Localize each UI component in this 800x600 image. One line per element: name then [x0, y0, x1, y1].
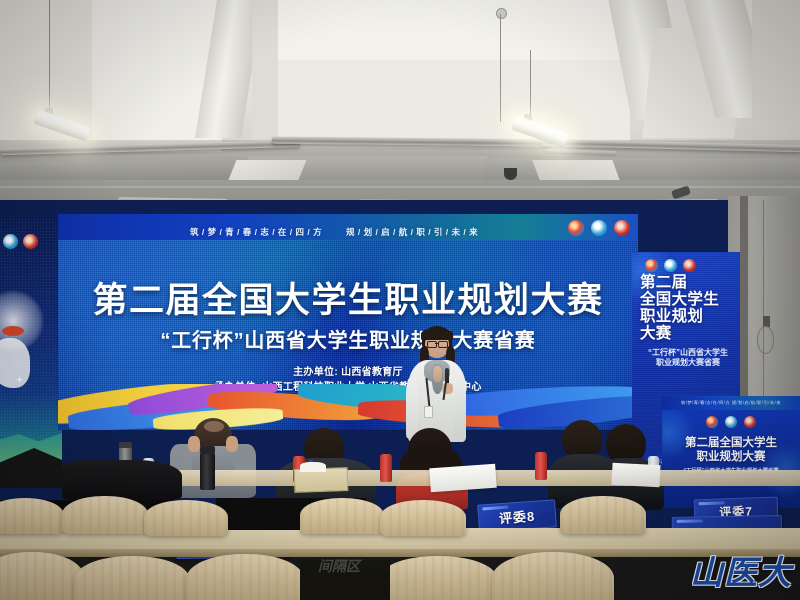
organizer-label: 主办单位: — [293, 367, 338, 378]
light-wire — [49, 0, 50, 112]
bottle-cap — [119, 442, 132, 448]
ceiling-mount — [496, 8, 507, 19]
podium-title: 第二届全国大学生 职业规划大赛 — [662, 436, 800, 464]
water-bottle — [535, 452, 547, 480]
education-ministry-logo — [725, 416, 737, 428]
organizer-row: 主办单位: 山西省教育厅 — [58, 366, 638, 381]
podium-logos — [662, 416, 800, 428]
cable-loop — [757, 326, 774, 354]
left-banner-logos — [3, 234, 38, 249]
presenter-badge — [424, 406, 433, 418]
water-bottle — [380, 454, 392, 482]
slogan-right: 规 / 划 / 启 / 航 / 职 / 引 / 未 / 来 — [346, 226, 478, 238]
icbc-bank-logo — [744, 416, 756, 428]
event-sub-title: “工行杯”山西省大学生职业规划大赛省赛 — [58, 324, 638, 353]
black-jacket — [62, 460, 182, 500]
competition-flame-logo — [706, 416, 718, 428]
education-ministry-logo — [664, 259, 677, 272]
light-wire — [500, 14, 501, 122]
placard-header-bar — [677, 519, 703, 522]
education-ministry-logo — [3, 234, 18, 249]
banner-sub-line: “工行杯”山西省大学生 — [640, 348, 736, 358]
banner-blob — [0, 338, 30, 388]
chair — [378, 556, 498, 600]
banner-title-line: 第二届 — [640, 274, 734, 291]
water-bottle — [200, 452, 215, 490]
left-side-banner — [0, 218, 62, 468]
icbc-bank-logo — [23, 234, 38, 249]
chair — [186, 554, 304, 600]
icbc-bank-logo — [683, 259, 696, 272]
event-main-title: 第二届全国大学生职业规划大赛 — [58, 272, 638, 323]
ceiling-speaker — [504, 168, 517, 180]
slogan-left: 筑 / 梦 / 青 / 春 / 志 / 在 / 四 / 方 — [190, 226, 322, 238]
banner-logos — [645, 259, 696, 272]
organizer-value: 山西省教育厅 — [341, 367, 403, 378]
chair — [144, 500, 228, 536]
light-wire — [530, 50, 531, 120]
chair — [0, 552, 84, 600]
documents — [429, 464, 497, 493]
competition-flame-logo — [568, 220, 584, 236]
header-logos — [568, 220, 630, 236]
judge-hand — [188, 436, 200, 452]
banner-title: 第二届 全国大学生 职业规划 大赛 — [640, 274, 734, 342]
chair — [560, 496, 646, 534]
podium-top-text: 筑/梦/青/春/志/在/四/方 规/划/启/航/职/引/未/来 — [662, 400, 800, 406]
chair — [0, 498, 64, 534]
judge-hand — [226, 436, 238, 452]
presenter-fringe — [421, 328, 453, 340]
ceiling-panel — [278, 60, 630, 148]
chair — [380, 500, 466, 536]
podium-title-line: 职业规划大赛 — [662, 450, 800, 464]
bottle-cap — [200, 446, 215, 454]
podium-title-line: 第二届全国大学生 — [662, 436, 800, 450]
watermark-logo: 山医大 — [690, 546, 792, 594]
ceiling-band — [484, 158, 800, 182]
chair — [74, 556, 190, 600]
banner-title-line: 大赛 — [640, 325, 734, 342]
podium-top-band: 筑/梦/青/春/志/在/四/方 规/划/启/航/职/引/未/来 — [662, 396, 800, 410]
banner-title-line: 全国大学生 — [640, 291, 734, 308]
led-screen: 筑 / 梦 / 青 / 春 / 志 / 在 / 四 / 方 规 / 划 / 启 … — [58, 214, 638, 430]
banner-sub-line: 职业规划大赛省赛 — [640, 358, 736, 368]
banner-title-line: 职业规划 — [640, 308, 734, 325]
watermark-ghost: 间隔区 — [318, 556, 360, 576]
chair — [62, 496, 148, 534]
tissue — [300, 462, 326, 472]
glasses-bridge — [435, 343, 438, 344]
competition-flame-logo — [645, 259, 658, 272]
ceiling-panel — [752, 0, 800, 130]
presenter-neck — [433, 366, 442, 382]
podium-banner: 筑/梦/青/春/志/在/四/方 规/划/启/航/职/引/未/来 第二届全国大学生… — [662, 396, 800, 508]
documents — [611, 463, 660, 487]
ceiling — [0, 0, 800, 216]
judge-bald-spot — [204, 421, 224, 432]
chair — [492, 552, 614, 600]
banner-accent — [2, 326, 24, 336]
education-ministry-logo — [591, 220, 607, 236]
presenter — [404, 326, 470, 442]
chair — [300, 498, 384, 534]
photo-scene: 筑 / 梦 / 青 / 春 / 志 / 在 / 四 / 方 规 / 划 / 启 … — [0, 0, 800, 600]
icbc-bank-logo — [614, 220, 630, 236]
banner-subtitle: “工行杯”山西省大学生 职业规划大赛省赛 — [640, 348, 736, 368]
